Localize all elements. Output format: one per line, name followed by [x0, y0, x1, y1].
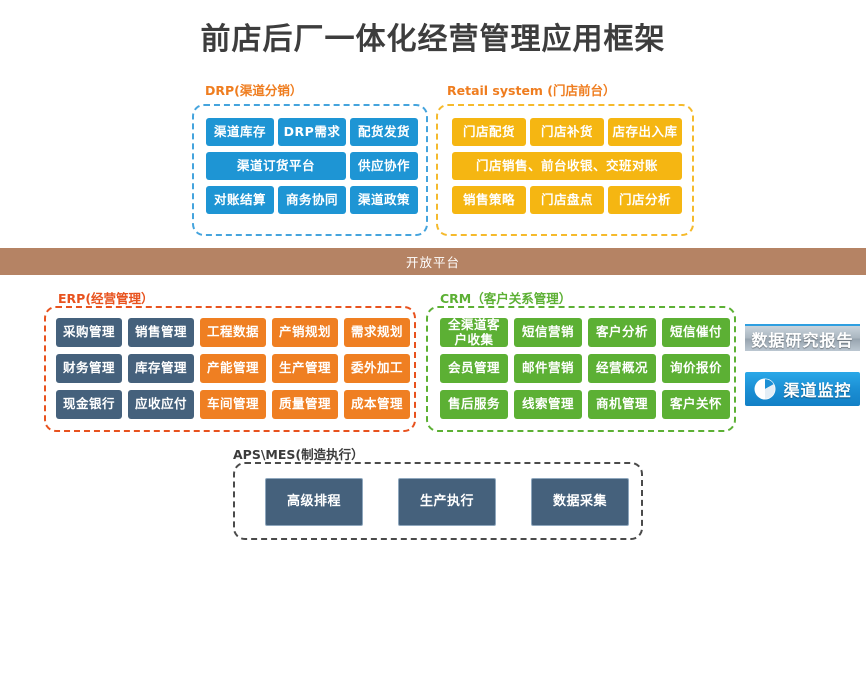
drp-tile-business-collab[interactable]: 商务协同	[278, 186, 346, 214]
retail-tile-store-in-out[interactable]: 店存出入库	[608, 118, 682, 146]
drp-tile-drp-demand[interactable]: DRP需求	[278, 118, 346, 146]
crm-tile-after-sales[interactable]: 售后服务	[440, 390, 508, 419]
crm-tile-quotation[interactable]: 询价报价	[662, 354, 730, 383]
crm-tile-membership[interactable]: 会员管理	[440, 354, 508, 383]
drp-tile-reconciliation[interactable]: 对账结算	[206, 186, 274, 214]
retail-tile-store-replenish[interactable]: 门店补货	[530, 118, 604, 146]
erp-tile-demand-planning[interactable]: 需求规划	[344, 318, 410, 347]
retail-section-label: Retail system (门店前台）	[447, 80, 616, 99]
aps-tile-production-exec[interactable]: 生产执行	[398, 478, 496, 526]
crm-tile-email-marketing[interactable]: 邮件营销	[514, 354, 582, 383]
drp-tile-channel-policy[interactable]: 渠道政策	[350, 186, 418, 214]
drp-tile-supply-collab[interactable]: 供应协作	[350, 152, 418, 180]
pie-chart-icon	[753, 377, 777, 401]
aps-tile-data-collection[interactable]: 数据采集	[531, 478, 629, 526]
crm-tile-customer-analysis[interactable]: 客户分析	[588, 318, 656, 347]
channel-monitor-badge[interactable]: 渠道监控	[745, 372, 860, 406]
erp-tile-capacity[interactable]: 产能管理	[200, 354, 266, 383]
crm-section-container: 全渠道客户收集 短信营销 客户分析 短信催付 会员管理 邮件营销 经营概况 询价…	[426, 306, 736, 432]
page-title: 前店后厂一体化经营管理应用框架	[0, 14, 866, 58]
crm-section-label: CRM（客户关系管理）	[440, 288, 571, 307]
open-platform-bar: 开放平台	[0, 248, 866, 275]
crm-tile-opportunity[interactable]: 商机管理	[588, 390, 656, 419]
drp-tile-channel-inventory[interactable]: 渠道库存	[206, 118, 274, 146]
erp-tile-finance[interactable]: 财务管理	[56, 354, 122, 383]
erp-tile-sop-planning[interactable]: 产销规划	[272, 318, 338, 347]
retail-section-container: 门店配货 门店补货 店存出入库 门店销售、前台收银、交班对账 销售策略 门店盘点…	[436, 104, 694, 236]
crm-tile-omnichannel-collect[interactable]: 全渠道客户收集	[440, 318, 508, 347]
retail-tile-store-analysis[interactable]: 门店分析	[608, 186, 682, 214]
data-research-report-badge[interactable]: 数据研究报告	[745, 324, 860, 351]
erp-tile-quality[interactable]: 质量管理	[272, 390, 338, 419]
aps-tile-advanced-scheduling[interactable]: 高级排程	[265, 478, 363, 526]
retail-tile-sales-pos[interactable]: 门店销售、前台收银、交班对账	[452, 152, 682, 180]
aps-mes-section-label: APS\MES(制造执行）	[233, 444, 364, 463]
retail-tile-sales-strategy[interactable]: 销售策略	[452, 186, 526, 214]
erp-tile-sales[interactable]: 销售管理	[128, 318, 194, 347]
erp-section-container: 采购管理 销售管理 工程数据 产销规划 需求规划 财务管理 库存管理 产能管理 …	[44, 306, 416, 432]
crm-tile-business-overview[interactable]: 经营概况	[588, 354, 656, 383]
erp-tile-purchasing[interactable]: 采购管理	[56, 318, 122, 347]
erp-tile-engineering-data[interactable]: 工程数据	[200, 318, 266, 347]
data-research-report-label: 数据研究报告	[751, 327, 853, 351]
erp-tile-cash-bank[interactable]: 现金银行	[56, 390, 122, 419]
erp-tile-production[interactable]: 生产管理	[272, 354, 338, 383]
erp-tile-workshop[interactable]: 车间管理	[200, 390, 266, 419]
erp-tile-inventory[interactable]: 库存管理	[128, 354, 194, 383]
erp-tile-ar-ap[interactable]: 应收应付	[128, 390, 194, 419]
retail-tile-store-stocktake[interactable]: 门店盘点	[530, 186, 604, 214]
drp-section-label: DRP(渠道分销）	[205, 80, 302, 99]
crm-tile-sms-dunning[interactable]: 短信催付	[662, 318, 730, 347]
retail-tile-store-allocation[interactable]: 门店配货	[452, 118, 526, 146]
erp-section-label: ERP(经营管理）	[58, 288, 154, 307]
channel-monitor-label: 渠道监控	[783, 377, 851, 401]
crm-tile-lead-management[interactable]: 线索管理	[514, 390, 582, 419]
drp-tile-distribution-ship[interactable]: 配货发货	[350, 118, 418, 146]
erp-tile-cost[interactable]: 成本管理	[344, 390, 410, 419]
aps-mes-section-container: 高级排程 生产执行 数据采集	[233, 462, 643, 540]
drp-section-container: 渠道库存 DRP需求 配货发货 渠道订货平台 供应协作 对账结算 商务协同 渠道…	[192, 104, 428, 236]
drp-tile-order-platform[interactable]: 渠道订货平台	[206, 152, 346, 180]
erp-tile-outsourcing[interactable]: 委外加工	[344, 354, 410, 383]
crm-tile-sms-marketing[interactable]: 短信营销	[514, 318, 582, 347]
crm-tile-customer-care[interactable]: 客户关怀	[662, 390, 730, 419]
